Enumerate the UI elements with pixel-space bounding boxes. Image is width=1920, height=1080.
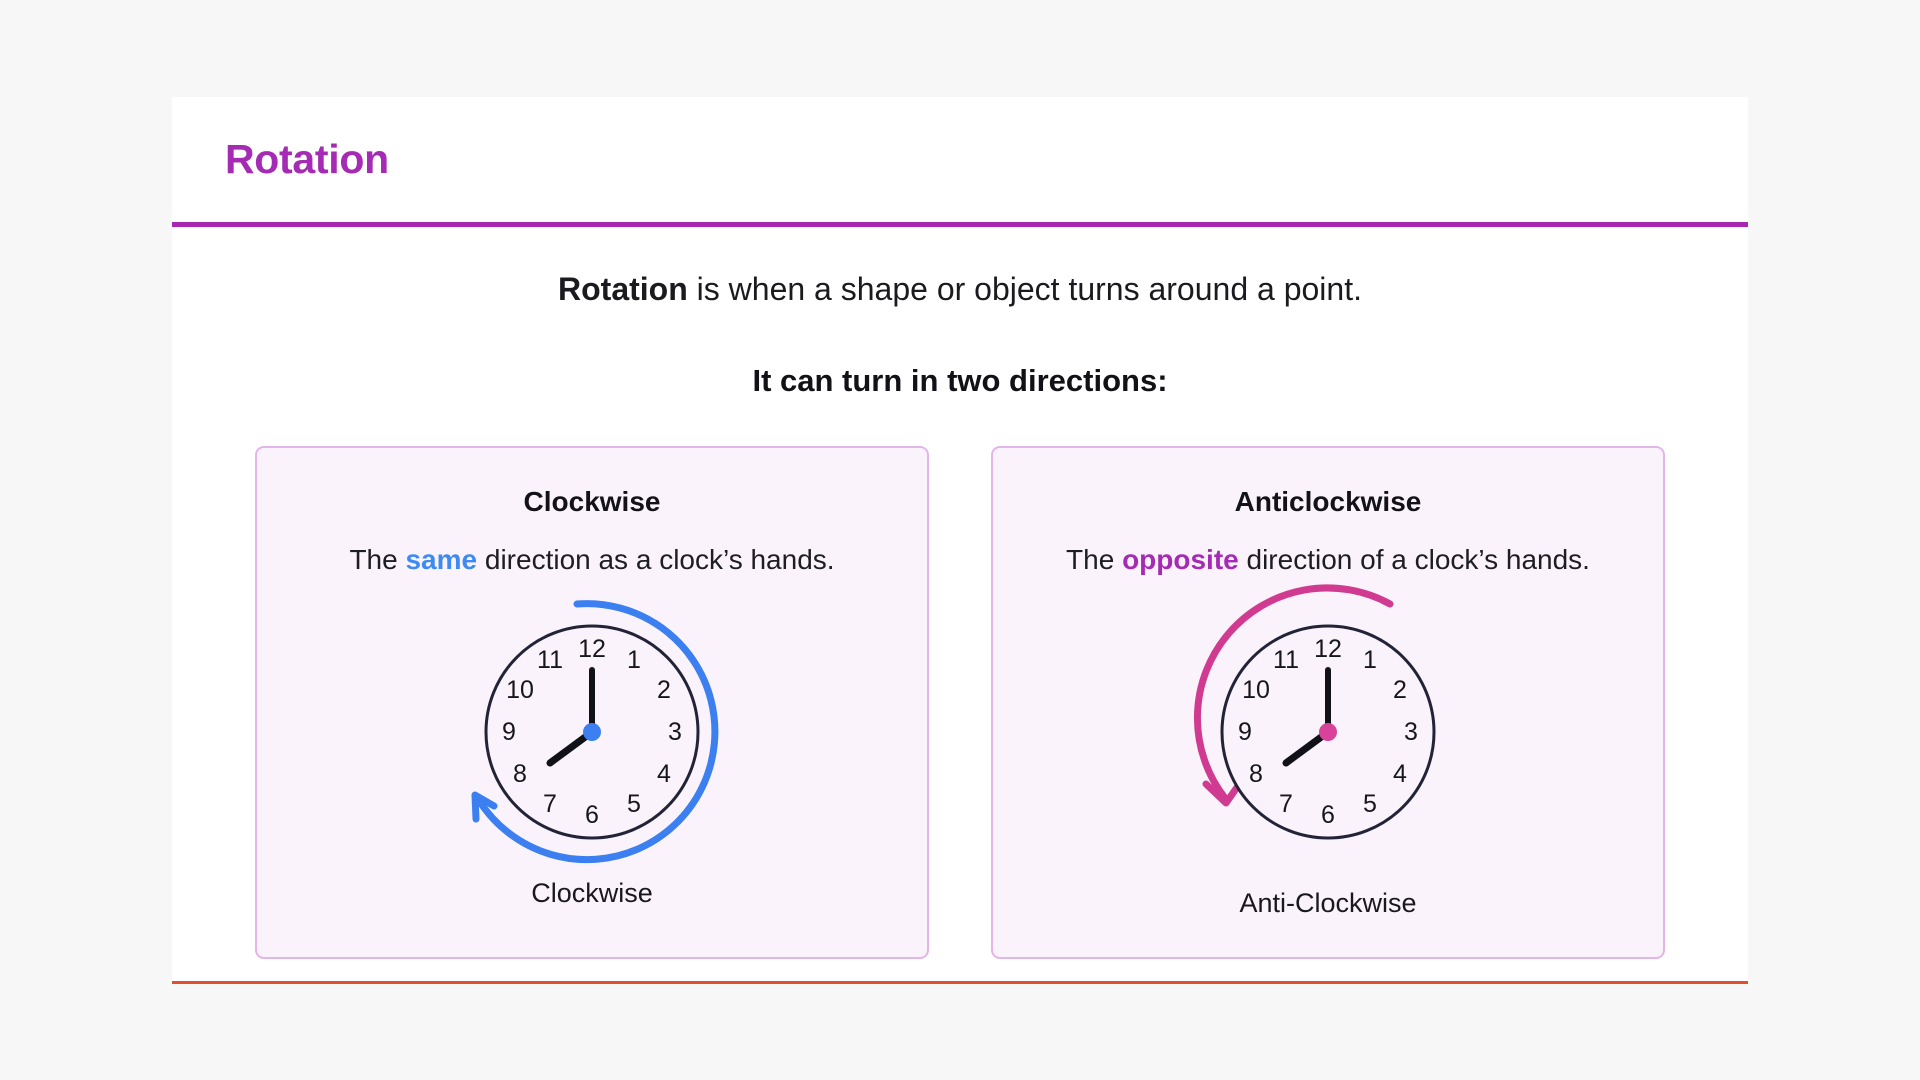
svg-text:6: 6 [585,801,599,829]
clock-svg-anticlockwise: 12 1 2 3 4 5 6 7 8 9 10 11 [1178,582,1478,882]
intro-sentence: Rotation is when a shape or object turns… [172,227,1748,311]
svg-text:9: 9 [1238,718,1252,746]
desc-highlight-opposite: opposite [1122,544,1239,575]
desc-before: The [1066,544,1122,575]
svg-text:10: 10 [1242,676,1270,704]
card-caption-anticlockwise: Anti-Clockwise [1239,888,1416,919]
panel-header: Rotation [172,97,1748,227]
clock-diagram-anticlockwise: 12 1 2 3 4 5 6 7 8 9 10 11 [1178,582,1478,882]
card-description-clockwise: The same direction as a clock’s hands. [349,544,834,576]
card-title-anticlockwise: Anticlockwise [1235,486,1422,518]
desc-after: direction of a clock’s hands. [1239,544,1590,575]
card-caption-clockwise: Clockwise [531,878,653,909]
card-description-anticlockwise: The opposite direction of a clock’s hand… [1066,544,1590,576]
intro-bold-word: Rotation [558,271,688,307]
card-clockwise: Clockwise The same direction as a clock’… [255,446,929,959]
desc-before: The [349,544,405,575]
svg-text:1: 1 [627,646,641,674]
clock-svg-clockwise: 12 1 2 3 4 5 6 7 8 9 10 11 [442,582,742,882]
clock-center-dot [583,723,601,741]
svg-text:11: 11 [537,646,563,674]
intro-rest: is when a shape or object turns around a… [688,271,1362,307]
svg-text:11: 11 [1273,646,1299,674]
desc-after: direction as a clock’s hands. [477,544,834,575]
svg-text:2: 2 [1393,676,1407,704]
svg-text:4: 4 [657,760,671,788]
svg-text:4: 4 [1393,760,1407,788]
svg-text:7: 7 [543,790,557,818]
svg-text:10: 10 [506,676,534,704]
direction-cards: Clockwise The same direction as a clock’… [172,446,1748,959]
desc-highlight-same: same [405,544,477,575]
clock-center-dot [1319,723,1337,741]
svg-text:12: 12 [578,635,606,663]
svg-text:8: 8 [1249,760,1263,788]
svg-text:3: 3 [1404,718,1418,746]
svg-text:12: 12 [1314,635,1342,663]
card-title-clockwise: Clockwise [524,486,661,518]
page-title: Rotation [225,136,389,183]
content-panel: Rotation Rotation is when a shape or obj… [172,97,1748,984]
svg-text:3: 3 [668,718,682,746]
page-root: Rotation Rotation is when a shape or obj… [0,0,1920,1080]
svg-text:7: 7 [1279,790,1293,818]
svg-text:8: 8 [513,760,527,788]
clock-diagram-clockwise: 12 1 2 3 4 5 6 7 8 9 10 11 [442,582,742,882]
card-anticlockwise: Anticlockwise The opposite direction of … [991,446,1665,959]
svg-text:5: 5 [627,790,641,818]
svg-text:1: 1 [1363,646,1377,674]
svg-text:5: 5 [1363,790,1377,818]
svg-text:6: 6 [1321,801,1335,829]
intro-subheading: It can turn in two directions: [172,311,1748,399]
svg-text:9: 9 [502,718,516,746]
svg-text:2: 2 [657,676,671,704]
